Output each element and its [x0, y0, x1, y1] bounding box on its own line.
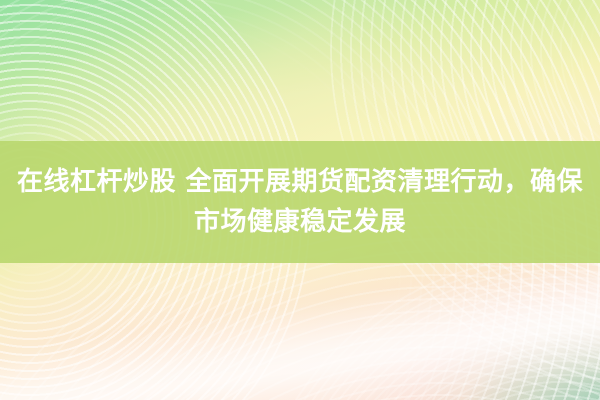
- article-banner: 在线杠杆炒股 全面开展期货配资清理行动，确保 市场健康稳定发展: [0, 0, 600, 400]
- headline-line-1: 在线杠杆炒股 全面开展期货配资清理行动，确保: [17, 162, 583, 202]
- headline-line-2: 市场健康稳定发展: [194, 202, 406, 242]
- headline-band: 在线杠杆炒股 全面开展期货配资清理行动，确保 市场健康稳定发展: [0, 141, 600, 263]
